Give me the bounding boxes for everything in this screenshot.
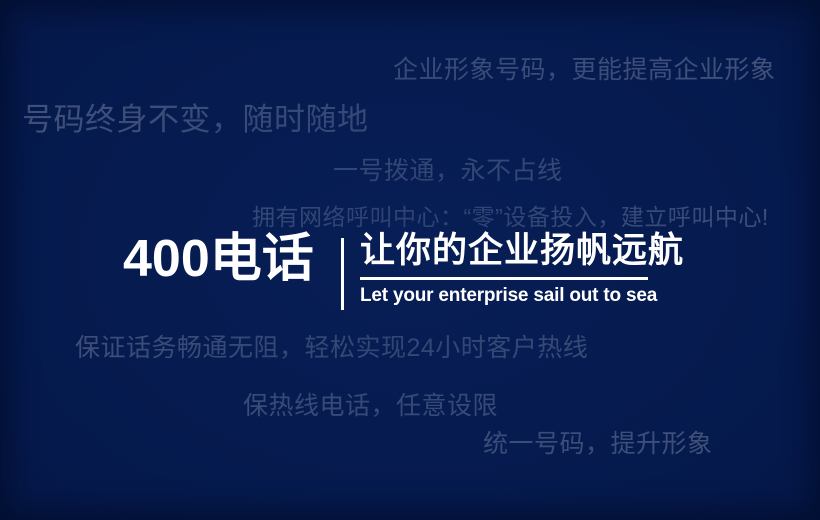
hero-headline: 让你的企业扬帆远航 (360, 228, 660, 274)
hero-block: 400电话 让你的企业扬帆远航 Let your enterprise sail… (0, 228, 820, 320)
background-slogan: 保证话务畅通无阻，轻松实现24小时客户热线 (75, 336, 588, 361)
promo-banner: 企业形象号码，更能提高企业形象 号码终身不变，随时随地 一号拨通，永不占线 拥有… (0, 0, 820, 520)
brand-title: 400电话 (123, 228, 314, 290)
vertical-divider (341, 238, 344, 310)
background-slogan: 号码终身不变，随时随地 (22, 104, 369, 135)
background-slogan: 企业形象号码，更能提高企业形象 (393, 58, 776, 83)
hero-subheadline: Let your enterprise sail out to sea (360, 283, 660, 309)
background-slogan: 一号拨通，永不占线 (333, 159, 563, 184)
background-slogan: 保热线电话，任意设限 (243, 394, 498, 419)
horizontal-divider (360, 277, 648, 280)
hero-text-group: 让你的企业扬帆远航 Let your enterprise sail out t… (360, 228, 660, 309)
background-slogan: 统一号码，提升形象 (483, 432, 713, 457)
background-slogan: 拥有网络呼叫中心：“零”设备投入，建立呼叫中心! (252, 206, 769, 229)
